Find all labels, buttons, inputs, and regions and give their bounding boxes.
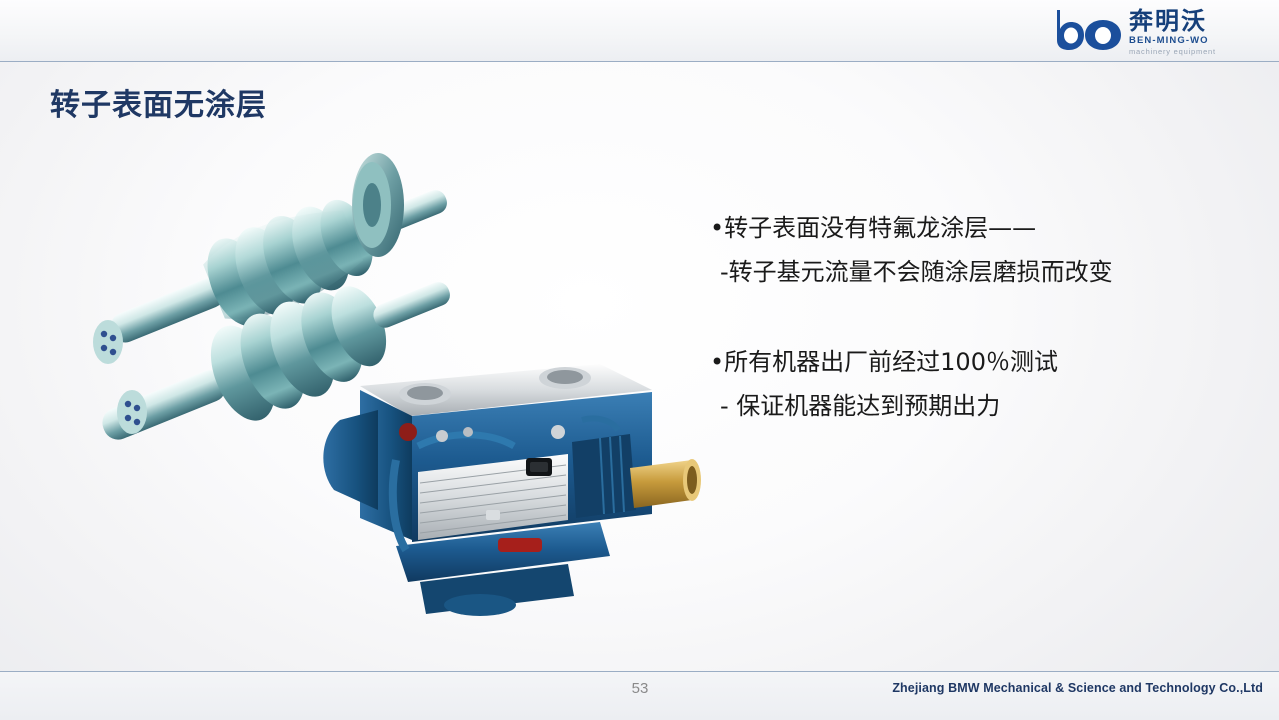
bullet-line: - 保证机器能达到预期出力 [710,384,1250,428]
bullet-group-1: •转子表面没有特氟龙涂层—— -转子基元流量不会随涂层磨损而改变 [710,206,1250,294]
logo-wordmark: 奔明沃 BEN-MING-WO machinery equipment [1129,8,1259,57]
shaft-end-lower [117,390,147,434]
bullet-line: •所有机器出厂前经过100％测试 [710,340,1250,384]
bullet-group-2: •所有机器出厂前经过100％测试 - 保证机器能达到预期出力 [710,340,1250,428]
blue-screw-compressor-image [300,350,720,640]
bullet-content: •转子表面没有特氟龙涂层—— -转子基元流量不会随涂层磨损而改变 •所有机器出厂… [710,206,1250,474]
footer-company-name: Zhejiang BMW Mechanical & Science and Te… [892,681,1263,695]
page-title: 转子表面无涂层 [50,80,267,124]
logo-chinese-name: 奔明沃 [1129,8,1259,34]
logo-tagline: machinery equipment [1129,47,1259,57]
shaft-end-upper [93,320,123,364]
bullet-line: •转子表面没有特氟龙涂层—— [710,206,1250,250]
gear-disc [352,153,404,257]
illustration-area [60,150,740,640]
bullet-line: -转子基元流量不会随涂层磨损而改变 [710,250,1250,294]
page-number: 53 [595,680,685,697]
header-divider [0,61,1279,62]
slide-canvas: 奔明沃 BEN-MING-WO machinery equipment 转子表面… [0,0,1279,720]
bo-monogram-icon [1051,6,1125,52]
logo-english-name: BEN-MING-WO [1129,35,1259,47]
company-logo: 奔明沃 BEN-MING-WO machinery equipment [1051,4,1261,58]
